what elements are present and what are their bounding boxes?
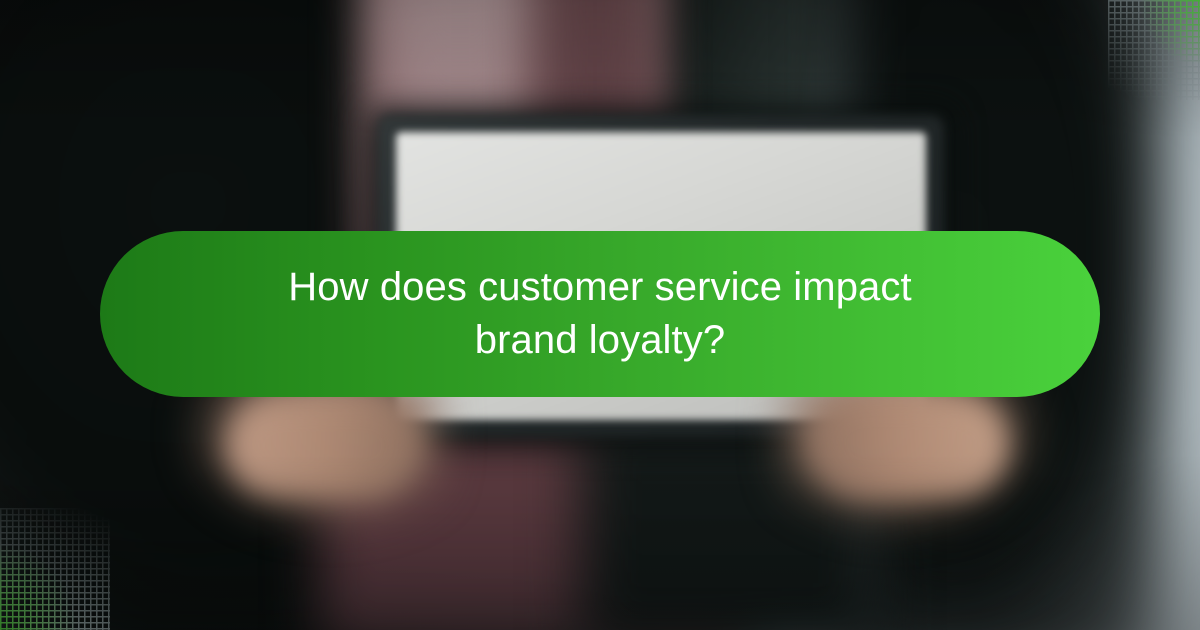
halftone-pattern-bottom-left-green <box>0 508 110 630</box>
question-card-stage: How does customer service impact brand l… <box>0 0 1200 630</box>
question-pill: How does customer service impact brand l… <box>100 231 1100 397</box>
question-text: How does customer service impact brand l… <box>250 261 950 367</box>
halftone-pattern-top-right-green <box>1108 0 1200 100</box>
